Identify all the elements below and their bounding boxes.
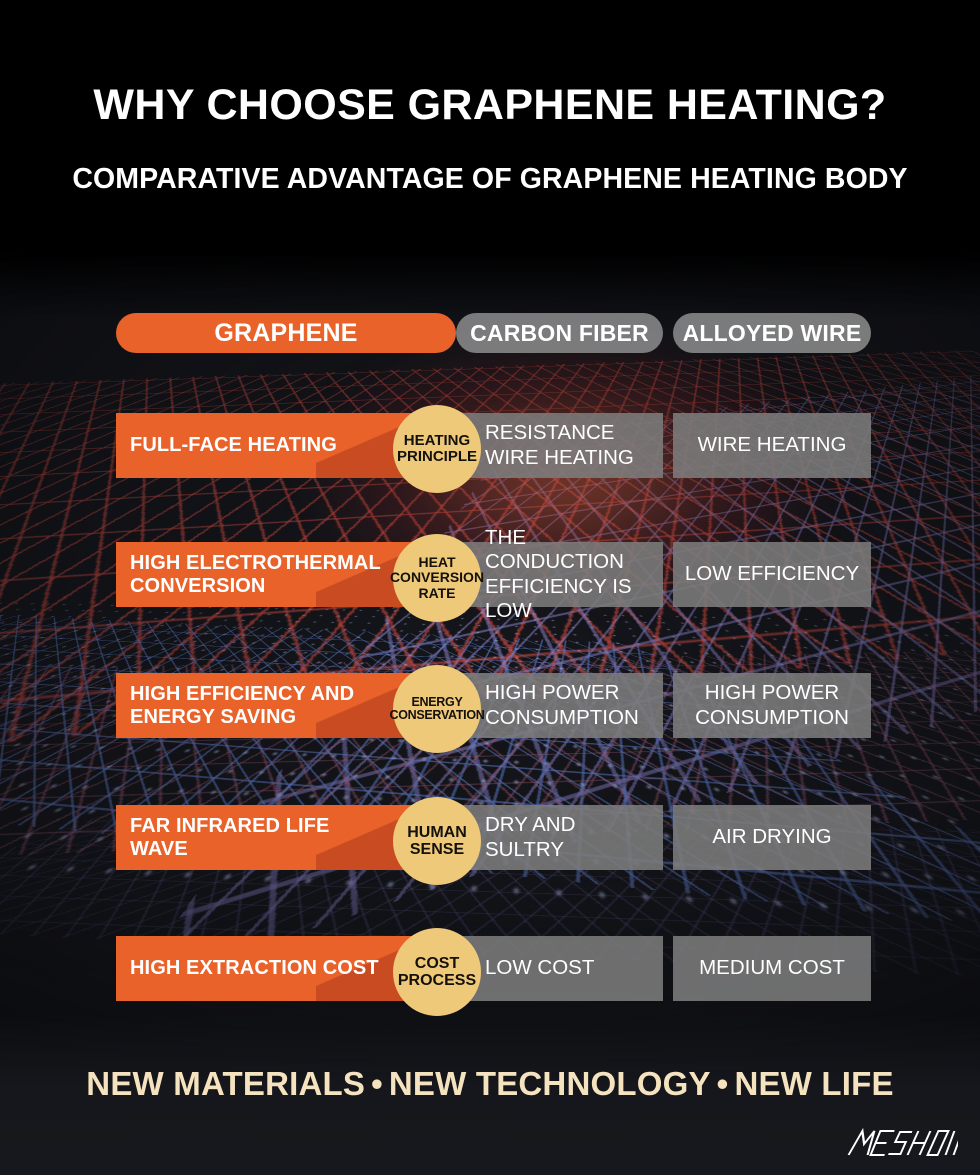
footer-part-1: NEW MATERIALS — [86, 1065, 365, 1102]
column-header-label: ALLOYED WIRE — [683, 320, 862, 347]
alloyed-wire-cell: WIRE HEATING — [673, 413, 871, 478]
comparison-row: FAR INFRARED LIFE WAVE DRY AND SULTRY AI… — [0, 797, 980, 889]
criterion-badge-label: HUMAN SENSE — [393, 824, 481, 859]
column-header-carbon-fiber: CARBON FIBER — [456, 313, 663, 353]
comparison-row: FULL-FACE HEATING RESISTANCE WIRE HEATIN… — [0, 405, 980, 497]
footer-part-3: NEW LIFE — [734, 1065, 893, 1102]
alloyed-wire-cell-label: HIGH POWER CONSUMPTION — [673, 681, 871, 729]
criterion-badge-label: HEATING PRINCIPLE — [393, 433, 481, 465]
criterion-badge: COST PROCESS — [393, 928, 481, 1016]
criterion-badge-label: ENERGY CONSERVATION — [388, 696, 485, 723]
criterion-badge: HEATING PRINCIPLE — [393, 405, 481, 493]
alloyed-wire-cell-label: AIR DRYING — [704, 825, 839, 849]
comparison-row: HIGH ELECTROTHERMAL CONVERSION THE CONDU… — [0, 534, 980, 626]
page-title: WHY CHOOSE GRAPHENE HEATING? — [0, 84, 980, 127]
criterion-badge: HEAT CONVERSION RATE — [393, 534, 481, 622]
infographic-content: WHY CHOOSE GRAPHENE HEATING? COMPARATIVE… — [0, 0, 980, 1175]
meshow-logo — [846, 1126, 958, 1160]
column-header-label: GRAPHENE — [214, 319, 357, 348]
graphene-cell-label: FULL-FACE HEATING — [116, 434, 407, 457]
criterion-badge-label: HEAT CONVERSION RATE — [389, 555, 485, 600]
footer-tagline: NEW MATERIALS•NEW TECHNOLOGY•NEW LIFE — [0, 1065, 980, 1103]
alloyed-wire-cell: AIR DRYING — [673, 805, 871, 870]
column-header-label: CARBON FIBER — [470, 320, 649, 347]
alloyed-wire-cell: LOW EFFICIENCY — [673, 542, 871, 607]
criterion-badge-label: COST PROCESS — [393, 955, 481, 990]
page-subtitle: COMPARATIVE ADVANTAGE OF GRAPHENE HEATIN… — [0, 165, 980, 194]
comparison-row: HIGH EXTRACTION COST LOW COST MEDIUM COS… — [0, 928, 980, 1020]
alloyed-wire-cell-label: LOW EFFICIENCY — [677, 562, 867, 586]
footer-part-2: NEW TECHNOLOGY — [389, 1065, 711, 1102]
criterion-badge: HUMAN SENSE — [393, 797, 481, 885]
alloyed-wire-cell: HIGH POWER CONSUMPTION — [673, 673, 871, 738]
bullet-separator-icon: • — [365, 1065, 389, 1103]
bullet-separator-icon: • — [711, 1065, 735, 1103]
alloyed-wire-cell-label: WIRE HEATING — [690, 433, 855, 457]
column-header-alloyed-wire: ALLOYED WIRE — [673, 313, 871, 353]
comparison-row: HIGH EFFICIENCY AND ENERGY SAVING HIGH P… — [0, 665, 980, 757]
alloyed-wire-cell: MEDIUM COST — [673, 936, 871, 1001]
criterion-badge: ENERGY CONSERVATION — [393, 665, 481, 753]
column-header-graphene: GRAPHENE — [116, 313, 456, 353]
alloyed-wire-cell-label: MEDIUM COST — [691, 956, 853, 980]
